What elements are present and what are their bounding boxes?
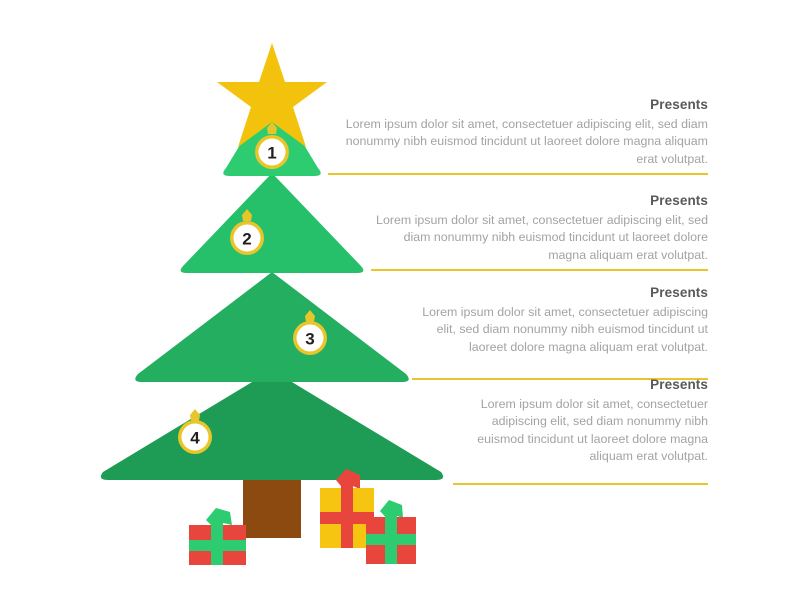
content-block-3: Presents Lorem ipsum dolor sit amet, con… [412, 284, 708, 356]
block-3-title: Presents [412, 284, 708, 301]
block-1-body: Lorem ipsum dolor sit amet, consectetuer… [330, 116, 708, 168]
block-4-body: Lorem ipsum dolor sit amet, consectetuer… [452, 396, 708, 466]
ornament-number-3: 3 [305, 330, 314, 349]
block-2-title: Presents [372, 192, 708, 209]
divider-1 [328, 173, 708, 175]
tree-tier-4 [101, 370, 443, 480]
block-3-body: Lorem ipsum dolor sit amet, consectetuer… [412, 304, 708, 356]
ornament-cap-icon [190, 409, 200, 421]
block-1-title: Presents [330, 96, 708, 113]
content-block-1: Presents Lorem ipsum dolor sit amet, con… [330, 96, 708, 168]
ornament-number-2: 2 [242, 230, 251, 249]
gift-ribbon-horizontal [366, 534, 416, 545]
block-4-title: Presents [452, 376, 708, 393]
divider-2 [371, 269, 708, 271]
divider-4 [453, 483, 708, 485]
ornament-number-1: 1 [267, 144, 276, 163]
gift-ribbon-horizontal [320, 512, 374, 524]
tree-tier-3 [135, 272, 408, 382]
gift-box-center[interactable] [320, 469, 374, 548]
content-block-4: Presents Lorem ipsum dolor sit amet, con… [452, 376, 708, 466]
content-block-2: Presents Lorem ipsum dolor sit amet, con… [372, 192, 708, 264]
gift-ribbon-horizontal [189, 540, 246, 551]
block-2-body: Lorem ipsum dolor sit amet, consectetuer… [372, 212, 708, 264]
tree-trunk [243, 478, 301, 538]
ornament-number-4: 4 [190, 429, 200, 448]
tree-tier-2 [181, 173, 364, 273]
gift-box-left[interactable] [189, 508, 246, 565]
infographic-canvas: 1 2 3 4 [0, 0, 800, 600]
